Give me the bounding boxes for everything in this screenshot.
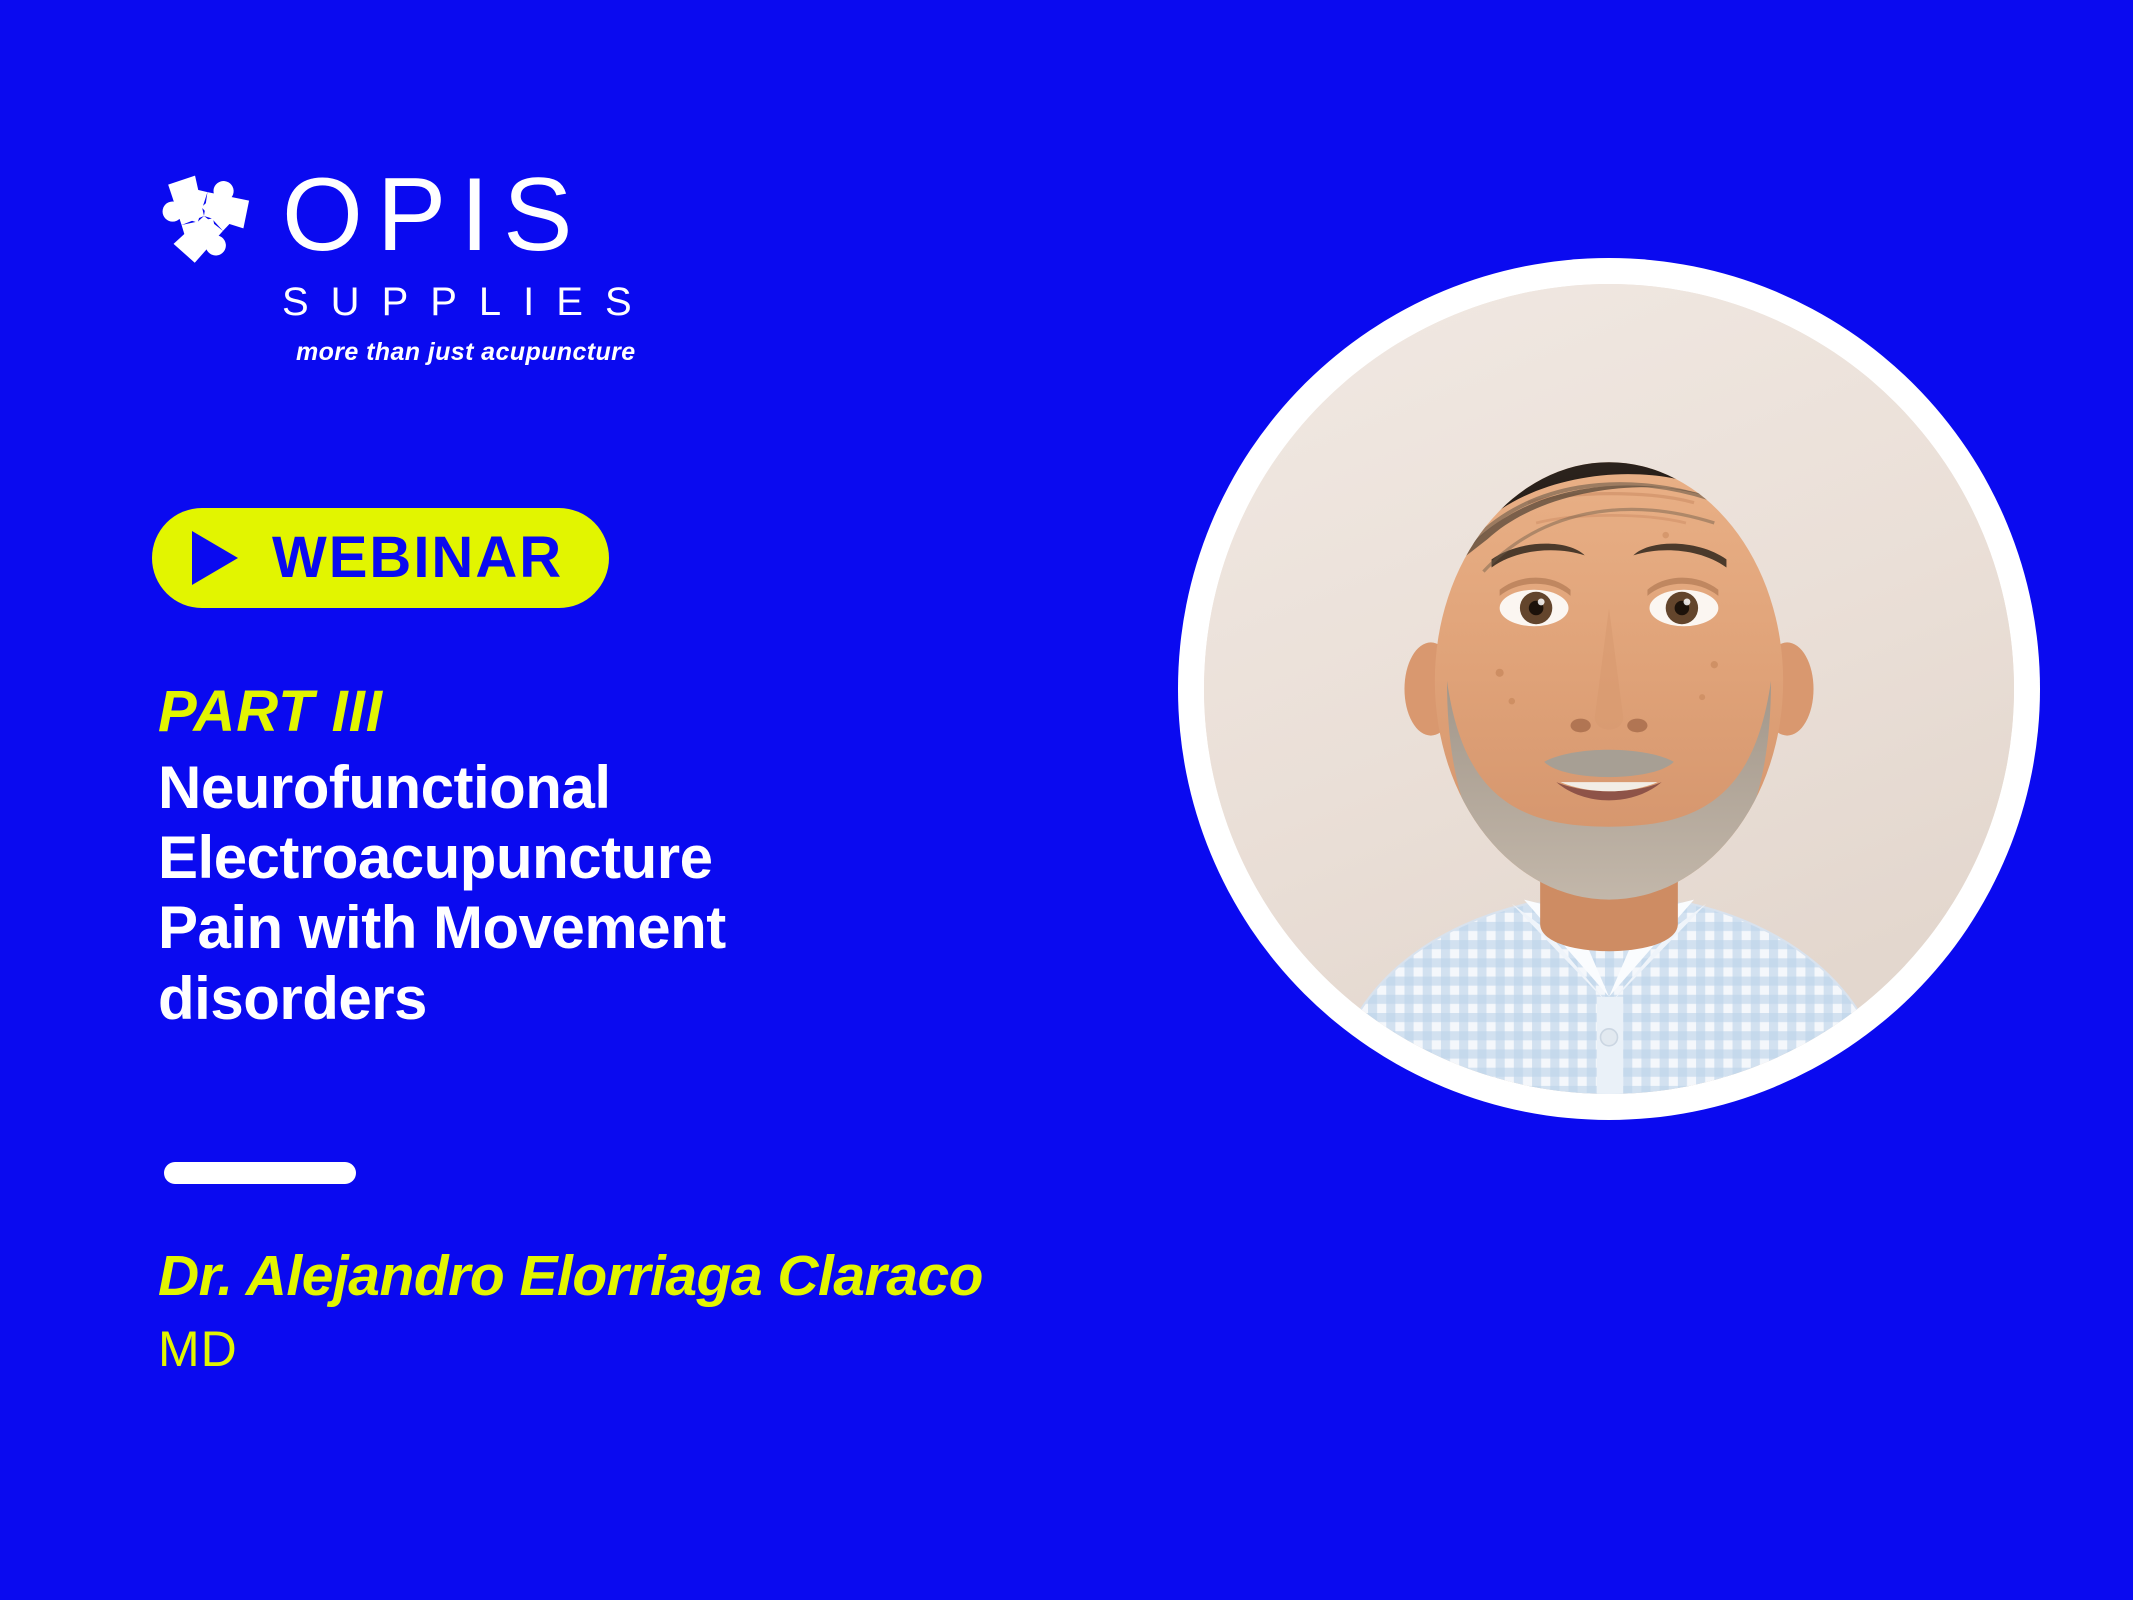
logo-wordmark: OPIS — [282, 168, 587, 264]
logo-row: OPIS — [148, 160, 768, 272]
webinar-badge[interactable]: WEBINAR — [152, 508, 609, 608]
title-line-4: disorders — [158, 964, 978, 1034]
divider-bar — [164, 1162, 356, 1184]
title-line-1: Neurofunctional — [158, 753, 978, 823]
play-icon — [192, 531, 238, 585]
webinar-badge-label: WEBINAR — [272, 529, 563, 587]
speaker-credentials: MD — [158, 1324, 1158, 1374]
brand-logo[interactable]: OPIS SUPPLIES more than just acupuncture — [148, 160, 768, 367]
portrait-photo — [1204, 284, 2014, 1094]
pinwheel-people-icon — [148, 160, 260, 272]
title-line-3: Pain with Movement — [158, 893, 978, 963]
speaker-name: Dr. Alejandro Elorriaga Claraco — [158, 1245, 1158, 1308]
title-line-2: Electroacupuncture — [158, 823, 978, 893]
avatar — [1178, 258, 2040, 1120]
page-title: Neurofunctional Electroacupuncture Pain … — [158, 753, 978, 1034]
part-label: PART III — [158, 680, 978, 745]
webinar-promo-slide: OPIS SUPPLIES more than just acupuncture… — [0, 0, 2133, 1600]
title-block: PART III Neurofunctional Electroacupunct… — [158, 680, 978, 1034]
speaker-block: Dr. Alejandro Elorriaga Claraco MD — [158, 1245, 1158, 1374]
logo-subtitle: SUPPLIES — [282, 282, 768, 322]
logo-tagline: more than just acupuncture — [296, 338, 768, 367]
